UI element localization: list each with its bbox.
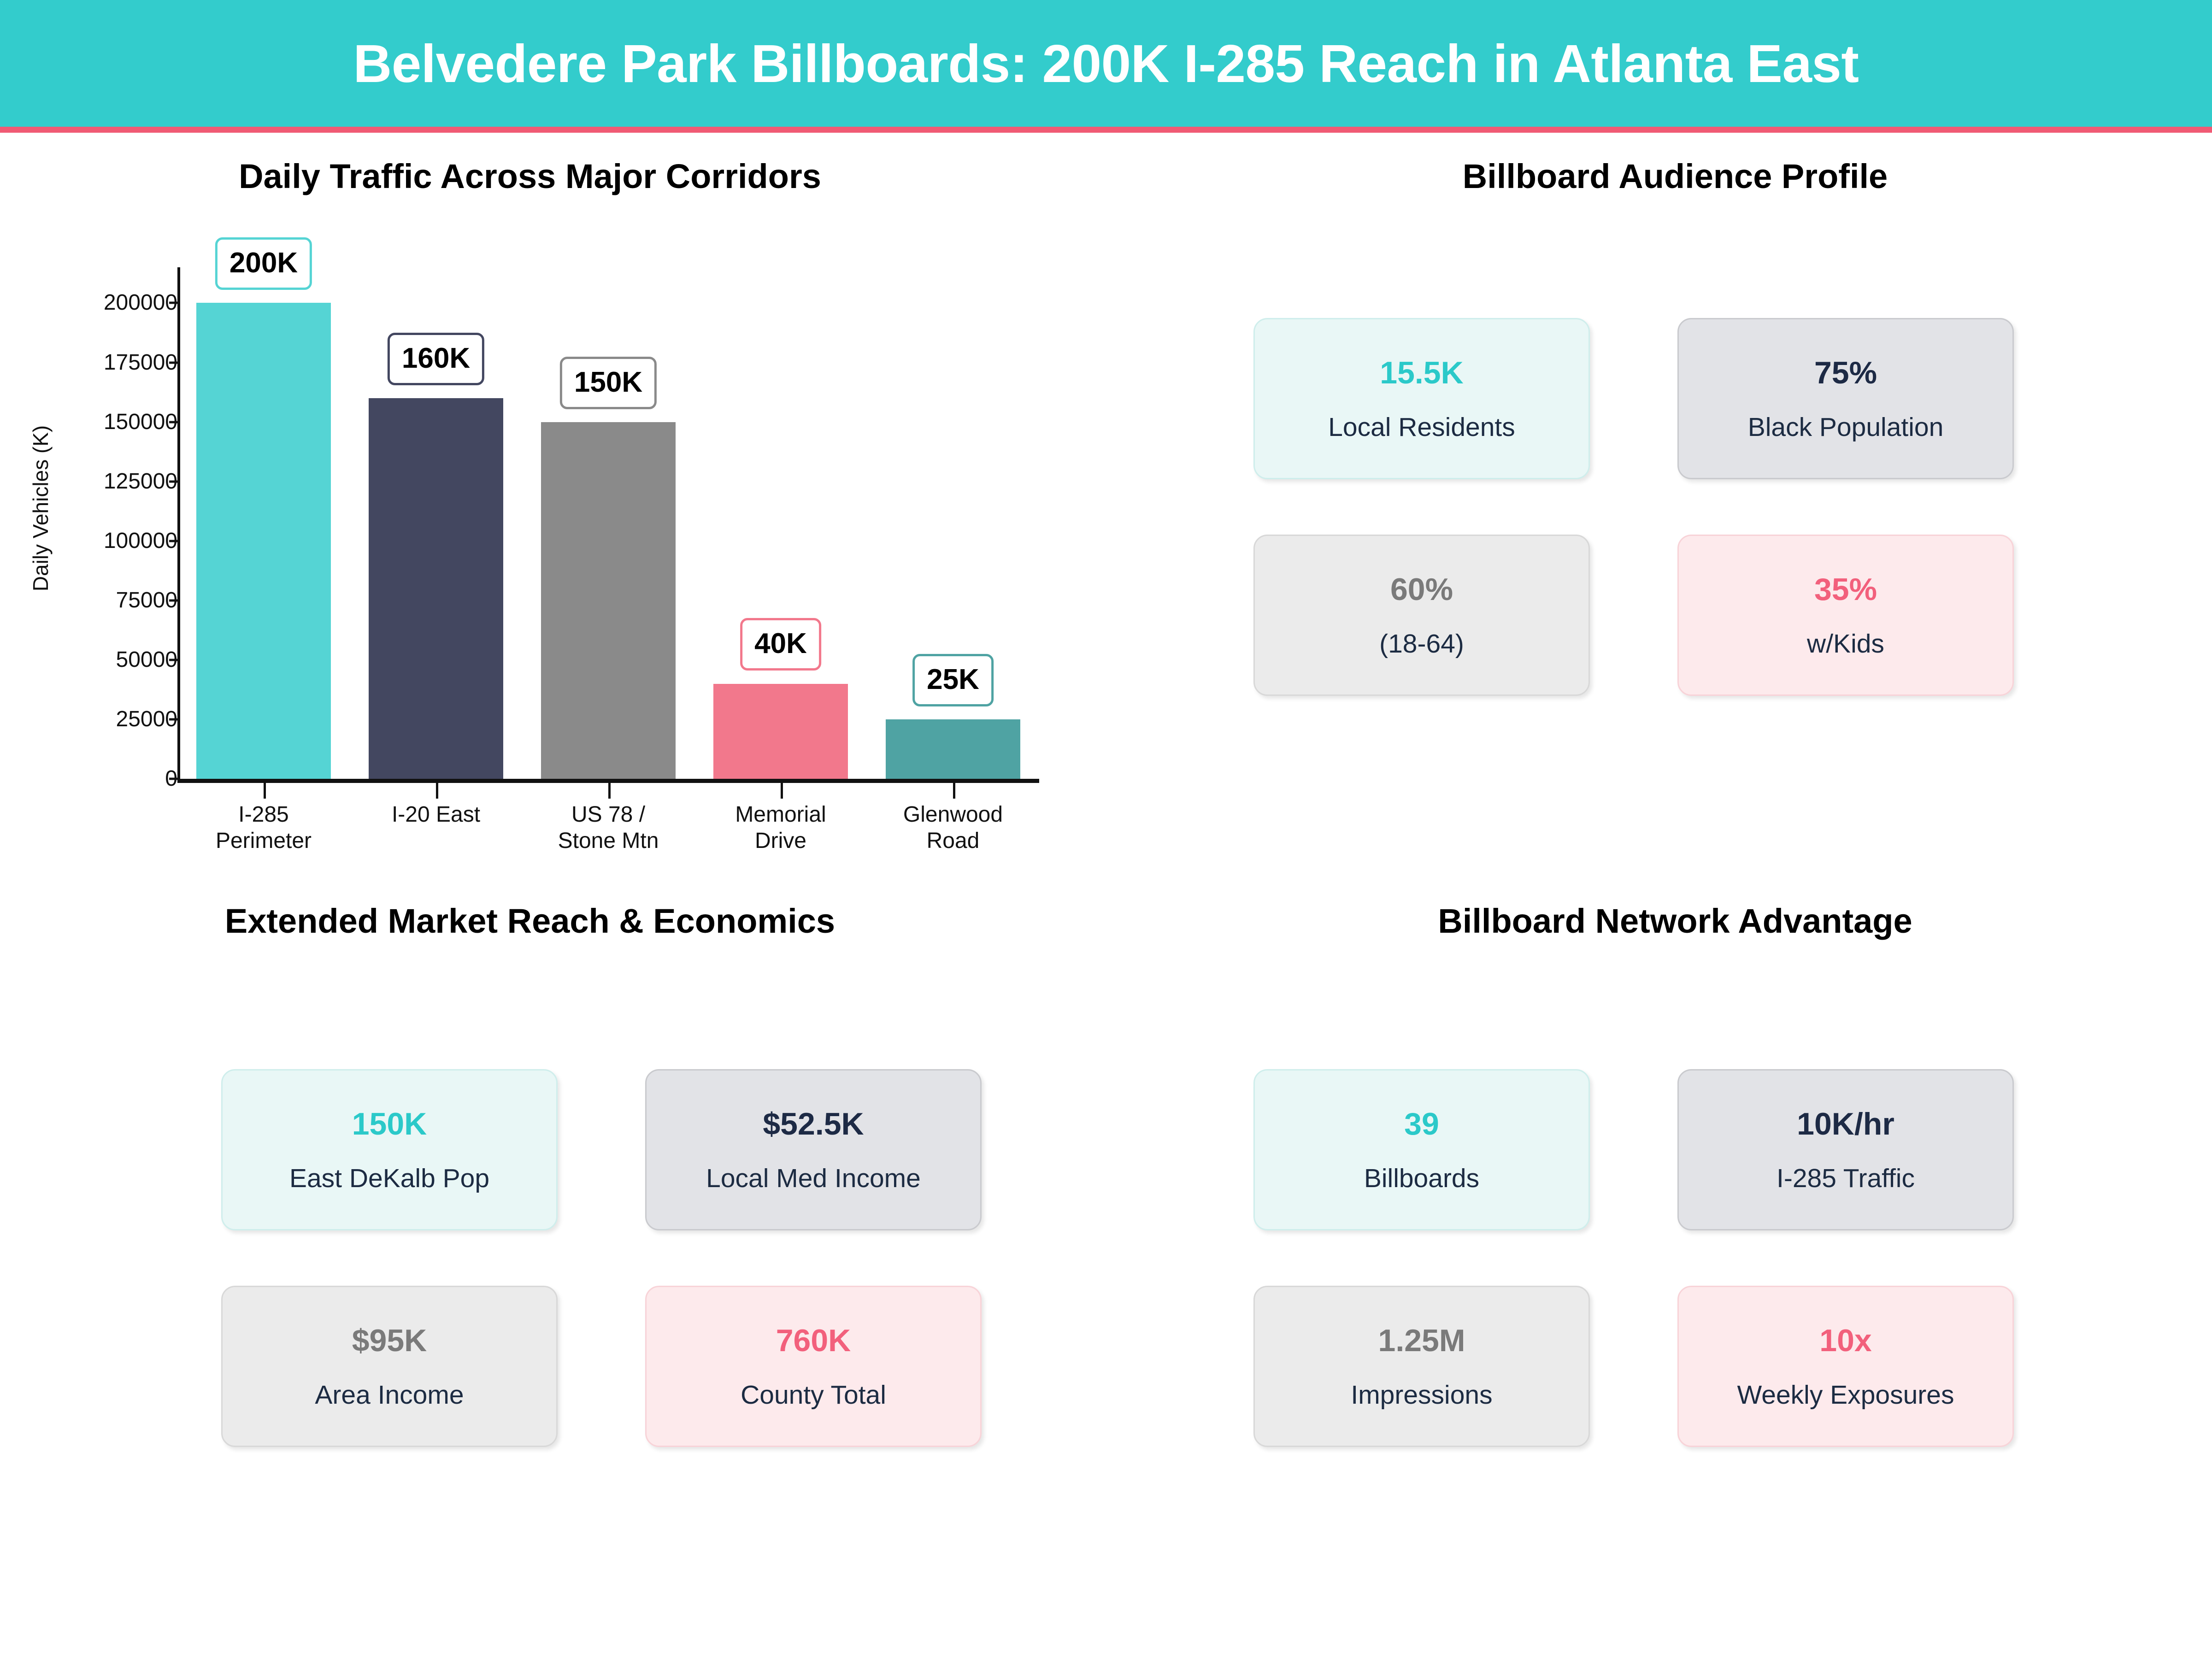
stat-card-label: (18-64) — [1379, 631, 1464, 657]
stat-card-label: Impressions — [1351, 1382, 1492, 1408]
chart-plot-area — [177, 267, 1039, 779]
stat-card-network-4: 10xWeekly Exposures — [1677, 1286, 2014, 1447]
stat-card-label: w/Kids — [1807, 631, 1884, 657]
traffic-bar-chart: Daily Vehicles (K) 025000500007500010000… — [0, 203, 1074, 857]
y-tick-mark — [169, 718, 177, 720]
x-tick-mark — [608, 783, 611, 799]
chart-bar — [369, 398, 503, 779]
y-tick-mark — [169, 361, 177, 364]
stat-card-network-3: 1.25MImpressions — [1253, 1286, 1590, 1447]
stat-card-label: East DeKalb Pop — [289, 1165, 489, 1192]
stat-card-label: County Total — [741, 1382, 886, 1408]
y-tick-mark — [169, 540, 177, 542]
x-tick-mark — [436, 783, 438, 799]
page-title: Belvedere Park Billboards: 200K I-285 Re… — [0, 0, 2212, 127]
y-tick-label: 100000 — [0, 530, 189, 552]
stat-card-audience-3: 60%(18-64) — [1253, 535, 1590, 696]
x-tick-mark — [264, 783, 266, 799]
x-tick-mark — [781, 783, 783, 799]
stat-card-label: Black Population — [1748, 414, 1944, 441]
y-tick-mark — [169, 659, 177, 661]
x-tick-mark — [953, 783, 955, 799]
stat-card-value: 760K — [776, 1325, 851, 1356]
panel-title-audience: Billboard Audience Profile — [1138, 159, 2212, 194]
stat-card-network-2: 10K/hrI-285 Traffic — [1677, 1069, 2014, 1230]
y-tick-label: 50000 — [0, 649, 189, 671]
stat-card-value: $52.5K — [763, 1108, 864, 1140]
y-tick-mark — [169, 421, 177, 423]
x-tick-label: I-285 Perimeter — [216, 802, 312, 854]
x-tick-label: US 78 / Stone Mtn — [558, 802, 659, 854]
y-tick-label: 175000 — [0, 352, 189, 374]
header-accent-rule — [0, 127, 2212, 133]
panel-title-traffic: Daily Traffic Across Major Corridors — [0, 159, 1060, 194]
stat-card-network-1: 39Billboards — [1253, 1069, 1590, 1230]
stat-card-label: Local Residents — [1328, 414, 1515, 441]
x-tick-label: Glenwood Road — [903, 802, 1003, 854]
y-tick-mark — [169, 480, 177, 482]
stat-card-value: 1.25M — [1378, 1325, 1465, 1356]
stat-card-value: 39 — [1404, 1108, 1439, 1140]
stat-card-label: I-285 Traffic — [1777, 1165, 1915, 1192]
chart-bar — [541, 422, 676, 779]
y-tick-mark — [169, 302, 177, 304]
stat-card-value: 60% — [1390, 574, 1453, 605]
chart-bar — [713, 684, 848, 779]
stat-card-label: Area Income — [315, 1382, 464, 1408]
stat-card-market-3: $95KArea Income — [221, 1286, 558, 1447]
bar-value-label: 25K — [912, 654, 994, 706]
stat-card-label: Local Med Income — [706, 1165, 921, 1192]
bar-value-label: 150K — [560, 357, 657, 409]
chart-bar — [886, 719, 1020, 779]
stat-card-label: Weekly Exposures — [1737, 1382, 1954, 1408]
stat-card-value: 75% — [1814, 357, 1877, 388]
stat-card-value: 35% — [1814, 574, 1877, 605]
x-tick-label: I-20 East — [392, 802, 480, 828]
y-tick-label: 25000 — [0, 708, 189, 730]
bar-value-label: 200K — [215, 237, 312, 290]
y-tick-mark — [169, 599, 177, 601]
panel-title-network: Billboard Network Advantage — [1138, 904, 2212, 938]
stat-card-value: $95K — [352, 1325, 427, 1356]
panel-title-market: Extended Market Reach & Economics — [0, 904, 1060, 938]
stat-card-value: 10K/hr — [1797, 1108, 1894, 1140]
stat-card-audience-4: 35%w/Kids — [1677, 535, 2014, 696]
x-tick-label: Memorial Drive — [735, 802, 826, 854]
stat-card-label: Billboards — [1364, 1165, 1479, 1192]
stat-card-market-2: $52.5KLocal Med Income — [645, 1069, 982, 1230]
stat-card-value: 150K — [352, 1108, 427, 1140]
y-tick-label: 125000 — [0, 471, 189, 493]
stat-card-market-4: 760KCounty Total — [645, 1286, 982, 1447]
bar-value-label: 160K — [388, 333, 484, 385]
y-tick-label: 75000 — [0, 589, 189, 612]
stat-card-value: 15.5K — [1380, 357, 1463, 388]
stat-card-audience-2: 75%Black Population — [1677, 318, 2014, 479]
y-tick-mark — [169, 778, 177, 780]
bar-value-label: 40K — [740, 618, 821, 671]
y-tick-label: 200000 — [0, 292, 189, 314]
stat-card-audience-1: 15.5KLocal Residents — [1253, 318, 1590, 479]
chart-bar — [196, 303, 331, 779]
y-tick-label: 150000 — [0, 411, 189, 433]
stat-card-value: 10x — [1819, 1325, 1871, 1356]
stat-card-market-1: 150KEast DeKalb Pop — [221, 1069, 558, 1230]
chart-x-axis-spine — [177, 779, 1039, 783]
y-tick-label: 0 — [0, 768, 189, 790]
